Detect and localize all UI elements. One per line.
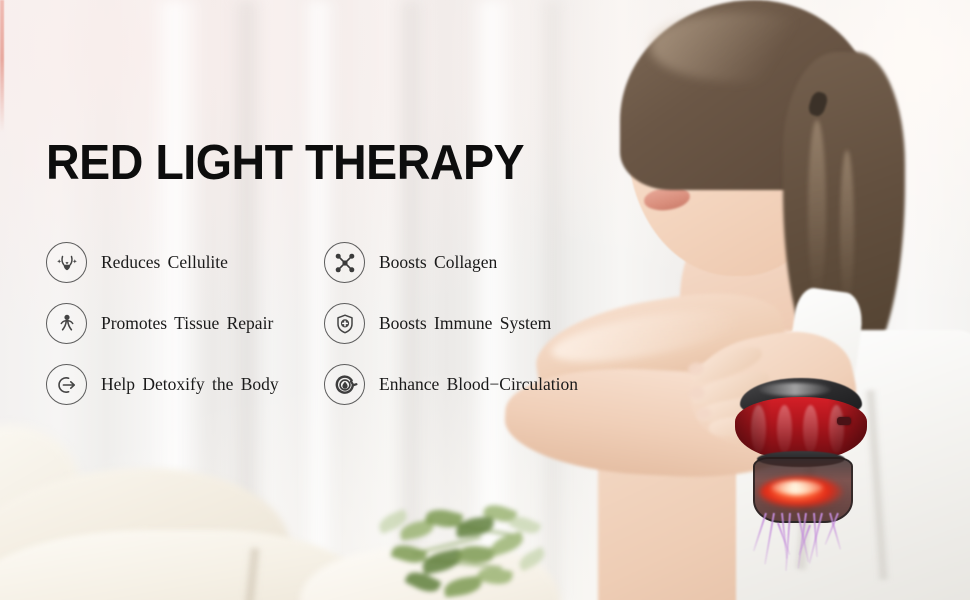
feature-list: Reduces Cellulite — [46, 232, 606, 415]
blood-drop-circulation-icon — [324, 364, 365, 405]
feature-label: Promotes Tissue Repair — [101, 313, 273, 334]
feature-row: Reduces Cellulite — [46, 232, 606, 293]
feature-label: Reduces Cellulite — [101, 252, 228, 273]
feature-label: Enhance Blood−Circulation — [379, 374, 578, 395]
body-slimming-icon — [46, 242, 87, 283]
feature-label: Help Detoxify the Body — [101, 374, 279, 395]
person-stretch-icon — [46, 303, 87, 344]
left-edge-accent — [0, 0, 4, 132]
feature-item-enhance-blood-circulation[interactable]: Enhance Blood−Circulation — [324, 364, 578, 405]
red-light-therapy-banner: RED LIGHT THERAPY Reduces Cellulite — [0, 0, 970, 600]
arrow-exit-circle-icon — [46, 364, 87, 405]
hair-strand — [808, 120, 826, 300]
feature-row: Promotes Tissue Repair Boosts Immune Sys… — [46, 293, 606, 354]
feature-label: Boosts Immune System — [379, 313, 551, 334]
feature-label: Boosts Collagen — [379, 252, 497, 273]
page-title: RED LIGHT THERAPY — [46, 139, 524, 188]
feature-item-promotes-tissue-repair[interactable]: Promotes Tissue Repair — [46, 303, 324, 344]
device-shading — [735, 397, 867, 459]
hair-strand — [840, 150, 854, 310]
molecule-collagen-icon — [324, 242, 365, 283]
device-charging-port — [837, 417, 851, 425]
shield-plus-icon — [324, 303, 365, 344]
feature-row: Help Detoxify the Body Enhance Blood−Cir… — [46, 354, 606, 415]
device-top-gloss — [759, 383, 831, 396]
feature-item-reduces-cellulite[interactable]: Reduces Cellulite — [46, 242, 324, 283]
energy-rays — [747, 513, 857, 575]
device-led-bar — [771, 481, 823, 494]
feature-item-boosts-collagen[interactable]: Boosts Collagen — [324, 242, 497, 283]
red-light-massager-device — [735, 375, 875, 555]
feature-item-boosts-immune-system[interactable]: Boosts Immune System — [324, 303, 551, 344]
feature-item-help-detoxify-the-body[interactable]: Help Detoxify the Body — [46, 364, 324, 405]
